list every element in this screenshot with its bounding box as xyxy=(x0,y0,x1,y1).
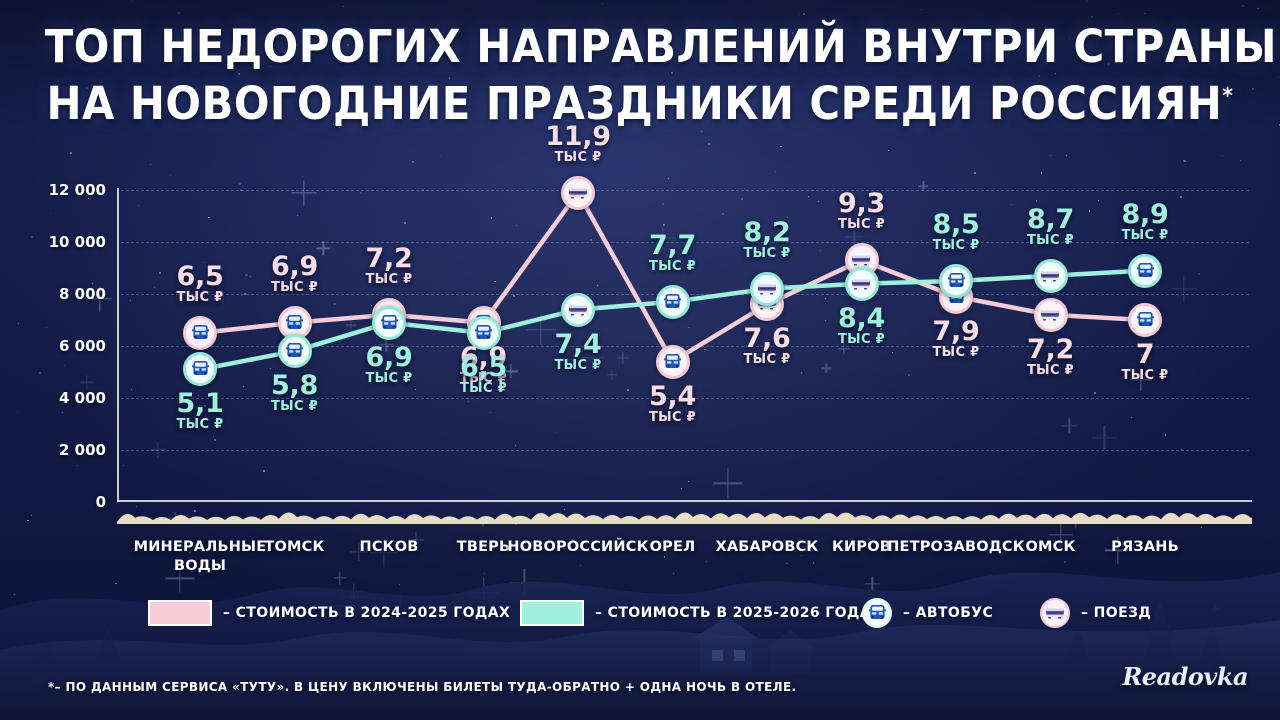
title-line-2-text: НА НОВОГОДНИЕ ПРАЗДНИКИ СРЕДИ РОССИЯН xyxy=(47,77,1223,130)
data-point-marker[interactable] xyxy=(372,306,406,340)
legend-item[interactable]: – СТОИМОСТЬ В 2024-2025 ГОДАХ xyxy=(148,600,510,626)
data-point-marker[interactable] xyxy=(278,334,312,368)
data-point-marker[interactable] xyxy=(1034,298,1068,332)
legend-icon-train xyxy=(1040,598,1070,628)
legend-swatch-pink xyxy=(148,600,212,626)
data-point-marker[interactable] xyxy=(183,316,217,350)
bus-icon xyxy=(192,324,209,342)
data-point-marker[interactable] xyxy=(656,285,690,319)
data-point-marker[interactable] xyxy=(561,176,595,210)
train-icon xyxy=(1045,606,1066,620)
train-icon xyxy=(1040,269,1061,283)
train-icon xyxy=(757,282,778,296)
legend-item[interactable]: – ПОЕЗД xyxy=(1040,598,1151,628)
legend-item[interactable]: – СТОИМОСТЬ В 2025-2026 ГОДАХ xyxy=(520,600,882,626)
data-point-marker[interactable] xyxy=(467,316,501,350)
bus-icon xyxy=(1137,311,1154,329)
brand-logo: Readovka xyxy=(1122,662,1248,691)
bus-icon xyxy=(948,272,965,290)
bus-icon xyxy=(1137,262,1154,280)
title-line-2: НА НОВОГОДНИЕ ПРАЗДНИКИ СРЕДИ РОССИЯН* xyxy=(45,72,1235,129)
title-asterisk: * xyxy=(1222,84,1233,109)
legend-label: – СТОИМОСТЬ В 2025-2026 ГОДАХ xyxy=(595,605,882,621)
series-lines xyxy=(0,170,1280,530)
chart-legend: – СТОИМОСТЬ В 2024-2025 ГОДАХ– СТОИМОСТЬ… xyxy=(0,588,1280,638)
legend-swatch-mint xyxy=(520,600,584,626)
bus-icon xyxy=(286,342,303,360)
legend-label: – ПОЕЗД xyxy=(1081,605,1151,621)
train-icon xyxy=(851,277,872,291)
bus-icon xyxy=(664,353,681,371)
bus-icon xyxy=(286,314,303,332)
bus-icon xyxy=(664,293,681,311)
title-line-1: ТОП НЕДОРОГИХ НАПРАВЛЕНИЙ ВНУТРИ СТРАНЫ xyxy=(45,22,1235,72)
data-point-marker[interactable] xyxy=(1034,259,1068,293)
data-point-marker[interactable] xyxy=(561,293,595,327)
x-axis-label: РЯЗАНЬ xyxy=(1060,538,1230,557)
bus-icon xyxy=(475,324,492,342)
data-point-marker[interactable] xyxy=(183,352,217,386)
train-icon xyxy=(568,186,589,200)
data-point-marker[interactable] xyxy=(1128,254,1162,288)
train-icon xyxy=(568,303,589,317)
legend-icon-bus xyxy=(862,598,892,628)
data-point-marker[interactable] xyxy=(750,272,784,306)
legend-label: – АВТОБУС xyxy=(903,605,993,621)
legend-label: – СТОИМОСТЬ В 2024-2025 ГОДАХ xyxy=(223,605,510,621)
footnote: *– ПО ДАННЫМ СЕРВИСА «ТУТУ». В ЦЕНУ ВКЛЮ… xyxy=(48,680,796,694)
legend-item[interactable]: – АВТОБУС xyxy=(862,598,993,628)
bus-icon xyxy=(192,360,209,378)
page-title: ТОП НЕДОРОГИХ НАПРАВЛЕНИЙ ВНУТРИ СТРАНЫ … xyxy=(0,22,1280,129)
data-point-marker[interactable] xyxy=(656,345,690,379)
data-point-marker[interactable] xyxy=(1128,303,1162,337)
line-chart: 02 0004 0006 0008 00010 00012 000 6,5ТЫС… xyxy=(0,170,1280,530)
train-icon xyxy=(851,253,872,267)
bus-icon xyxy=(381,314,398,332)
data-point-marker[interactable] xyxy=(845,267,879,301)
data-point-marker[interactable] xyxy=(939,264,973,298)
bus-icon xyxy=(869,604,886,622)
train-icon xyxy=(1040,308,1061,322)
